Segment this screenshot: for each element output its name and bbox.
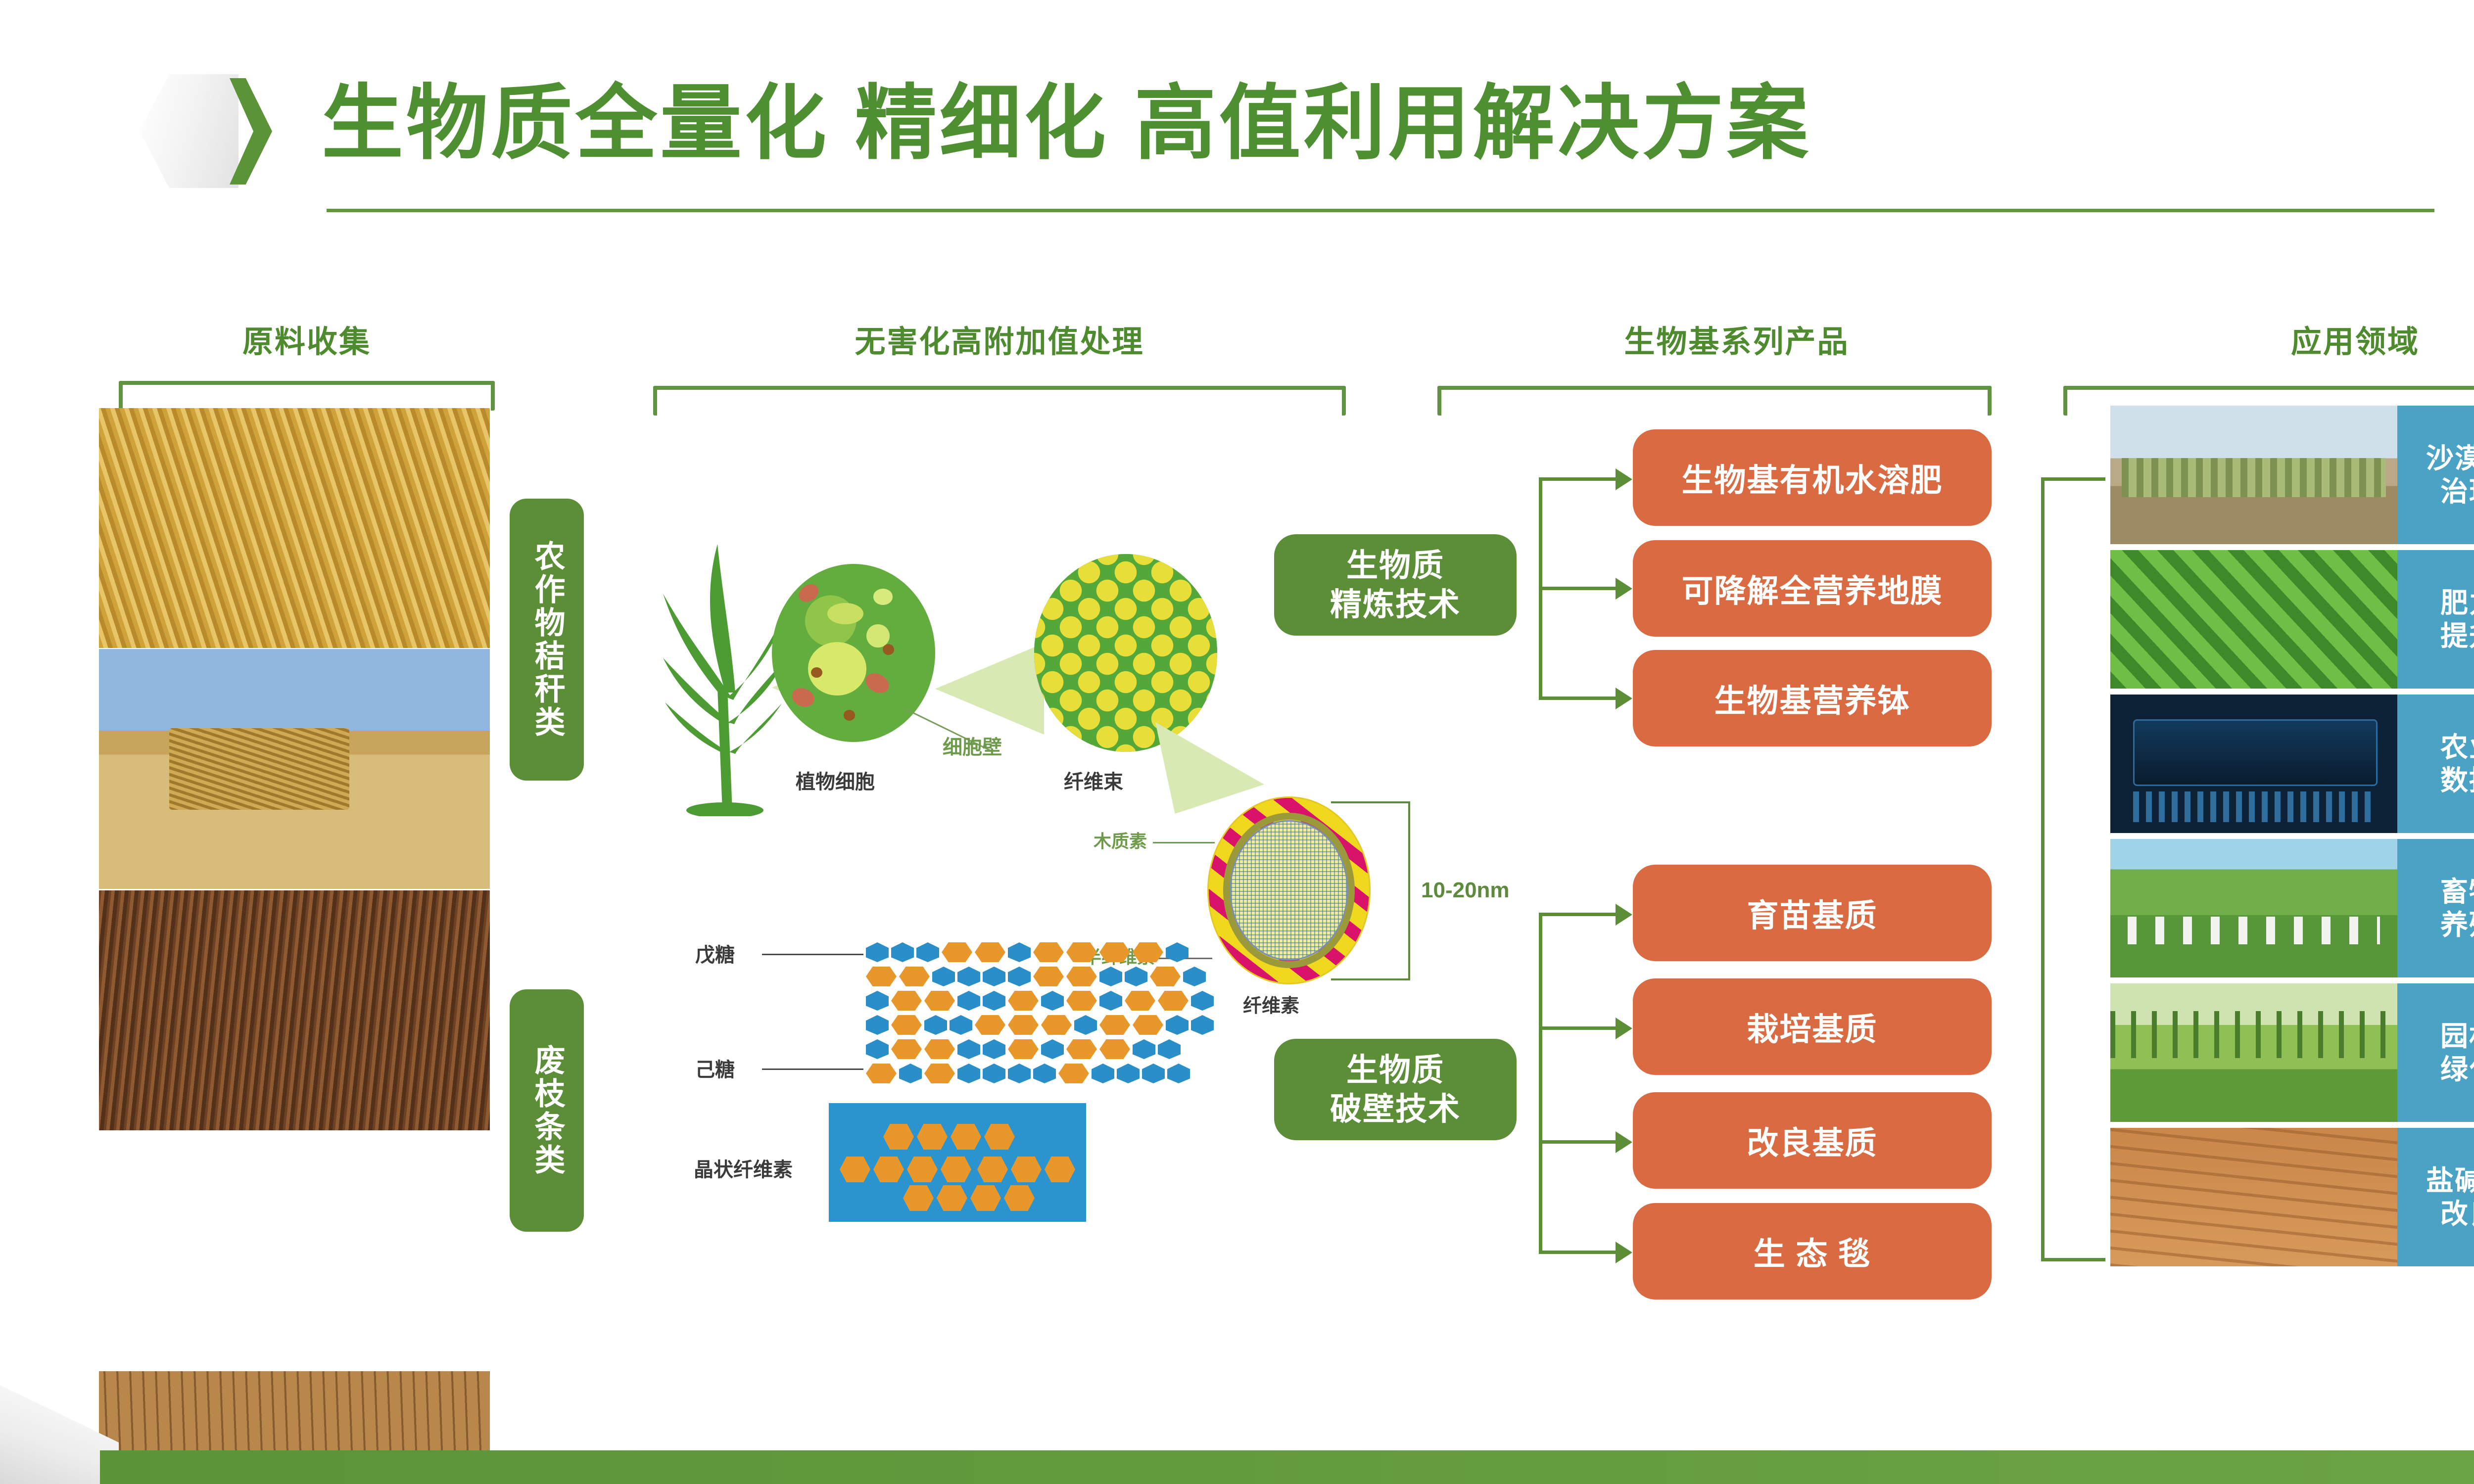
feedstock-label-crop-straw: 农作物秸秆类 <box>510 499 584 781</box>
cellulose-nanofiber-illustration <box>1207 796 1371 984</box>
section-header-products: 生物基系列产品 <box>1445 317 2029 361</box>
section-header-applications: 应用领域 <box>2103 317 2474 361</box>
lignin-leader-line <box>1153 842 1215 843</box>
lignin-label: 木质素 <box>1094 827 1147 853</box>
application-row-2[interactable]: 农业 数据 <box>2110 695 2474 833</box>
application-tag-1-line1: 肥力 <box>2440 587 2474 618</box>
arrow-refining-1 <box>1616 468 1632 490</box>
product-box-5[interactable]: 改良基质 <box>1633 1092 1992 1189</box>
arrow-wall-4 <box>1616 1242 1632 1263</box>
bracket-products <box>1437 386 1992 416</box>
cell-wall-label: 细胞壁 <box>943 731 1002 760</box>
arrow-wall-1 <box>1616 904 1632 926</box>
application-tag-4-line2: 绿化 <box>2440 1054 2474 1085</box>
plant-cell-label: 植物细胞 <box>796 766 875 794</box>
hexose-leader-line <box>762 1068 863 1070</box>
product-box-6[interactable]: 生 态 毯 <box>1633 1203 1992 1299</box>
connector-refining-branch-1 <box>1539 477 1618 481</box>
application-row-3[interactable]: 畜牧 养殖 <box>2110 839 2474 977</box>
footer-bar <box>100 1450 2474 1484</box>
crystalline-cellulose-label: 晶状纤维素 <box>694 1154 793 1182</box>
fiber-bundle-illustration <box>1034 554 1217 752</box>
arrow-wall-3 <box>1616 1131 1632 1153</box>
connector-applications-bottom <box>2041 1258 2105 1261</box>
hexagon-badge-icon <box>140 74 238 188</box>
feedstock-label-waste-branches: 废枝条类 <box>510 989 584 1232</box>
connector-applications-top <box>2041 477 2105 481</box>
application-tag-3-line2: 养殖 <box>2440 909 2474 940</box>
sugar-chain-illustration <box>866 942 1214 1088</box>
park-greening-photo <box>2110 983 2397 1122</box>
product-box-4[interactable]: 栽培基质 <box>1633 978 1992 1075</box>
connector-applications-trunk <box>2041 477 2045 1261</box>
agri-data-dashboard-photo <box>2110 695 2397 833</box>
application-tag-4-line1: 园林 <box>2440 1020 2474 1052</box>
application-tag-2-line1: 农业 <box>2440 732 2474 763</box>
application-tag-0-line2: 治理 <box>2440 476 2474 507</box>
application-row-0[interactable]: 沙漠化 治理 <box>2110 406 2474 544</box>
saline-land-photo <box>2110 1128 2397 1266</box>
tech-box-refining[interactable]: 生物质 精炼技术 <box>1274 534 1517 636</box>
connector-wall-branch-4 <box>1539 1251 1618 1254</box>
dry-branches-photo <box>99 890 490 1130</box>
straw-field-photo <box>99 408 490 648</box>
product-box-1[interactable]: 可降解全营养地膜 <box>1633 540 1992 637</box>
dimension-top-tick <box>1331 801 1410 803</box>
tech-box-wall-breaking[interactable]: 生物质 破壁技术 <box>1274 1039 1517 1140</box>
application-row-5[interactable]: 盐碱地 改良 <box>2110 1128 2474 1266</box>
application-tag-5-line1: 盐碱地 <box>2426 1165 2474 1196</box>
fiber-bundle-label: 纤维束 <box>1064 766 1123 794</box>
application-tag-5-line2: 改良 <box>2440 1198 2474 1229</box>
bracket-processing <box>653 386 1346 416</box>
application-row-4[interactable]: 园林 绿化 <box>2110 983 2474 1122</box>
straw-bale-photo <box>99 649 490 889</box>
cabbage-field-photo <box>2110 550 2397 689</box>
pentose-label: 戊糖 <box>695 939 735 968</box>
pentose-leader-line <box>762 954 863 955</box>
hexose-label: 己糖 <box>695 1054 735 1082</box>
desert-control-photo <box>2110 406 2397 544</box>
application-tag-1-line2: 提升 <box>2440 620 2474 651</box>
dimension-vertical-line <box>1408 801 1410 980</box>
product-box-2[interactable]: 生物基营养钵 <box>1633 650 1992 746</box>
connector-refining-branch-2 <box>1539 587 1618 590</box>
application-tag-0-line1: 沙漠化 <box>2426 443 2474 474</box>
crystalline-cellulose-illustration <box>829 1103 1086 1222</box>
section-header-collection: 原料收集 <box>101 317 512 361</box>
connector-wall-branch-1 <box>1539 913 1618 916</box>
application-row-1[interactable]: 肥力 提升 <box>2110 550 2474 689</box>
arrow-refining-3 <box>1616 688 1632 709</box>
connector-wall-trunk <box>1539 913 1542 1254</box>
application-tag-1: 肥力 提升 <box>2397 550 2474 689</box>
title-underline-divider <box>327 209 2434 212</box>
bracket-collection <box>119 381 495 411</box>
application-tag-0: 沙漠化 治理 <box>2397 406 2474 544</box>
slide-canvas: 生物质全量化 精细化 高值利用解决方案 原料收集 无害化高附加值处理 生物基系列… <box>0 0 2474 1484</box>
product-box-3[interactable]: 育苗基质 <box>1633 865 1992 961</box>
tech-wall-line2: 破壁技术 <box>1330 1091 1461 1127</box>
connector-refining-branch-3 <box>1539 696 1618 700</box>
tech-refining-line1: 生物质 <box>1346 548 1444 583</box>
dimension-label: 10-20nm <box>1421 878 1510 903</box>
application-tag-2-line2: 数据 <box>2440 765 2474 796</box>
magnify-cone-2 <box>935 643 1044 735</box>
application-tag-5: 盐碱地 改良 <box>2397 1128 2474 1266</box>
page-title: 生物质全量化 精细化 高值利用解决方案 <box>322 77 1811 171</box>
plant-cell-illustration <box>772 564 935 742</box>
cellulose-label: 纤维素 <box>1243 990 1299 1018</box>
connector-wall-branch-3 <box>1539 1140 1618 1144</box>
application-tag-2: 农业 数据 <box>2397 695 2474 833</box>
connector-wall-branch-2 <box>1539 1026 1618 1030</box>
tech-wall-line1: 生物质 <box>1346 1052 1444 1088</box>
application-tag-3: 畜牧 养殖 <box>2397 839 2474 977</box>
dimension-bottom-tick <box>1331 978 1410 980</box>
application-tag-4: 园林 绿化 <box>2397 983 2474 1122</box>
arrow-refining-2 <box>1616 578 1632 600</box>
arrow-wall-2 <box>1616 1018 1632 1039</box>
tech-refining-line2: 精炼技术 <box>1330 587 1461 622</box>
application-tag-3-line1: 畜牧 <box>2440 876 2474 907</box>
grazing-sheep-photo <box>2110 839 2397 977</box>
section-header-processing: 无害化高附加值处理 <box>614 317 1385 361</box>
product-box-0[interactable]: 生物基有机水溶肥 <box>1633 429 1992 526</box>
